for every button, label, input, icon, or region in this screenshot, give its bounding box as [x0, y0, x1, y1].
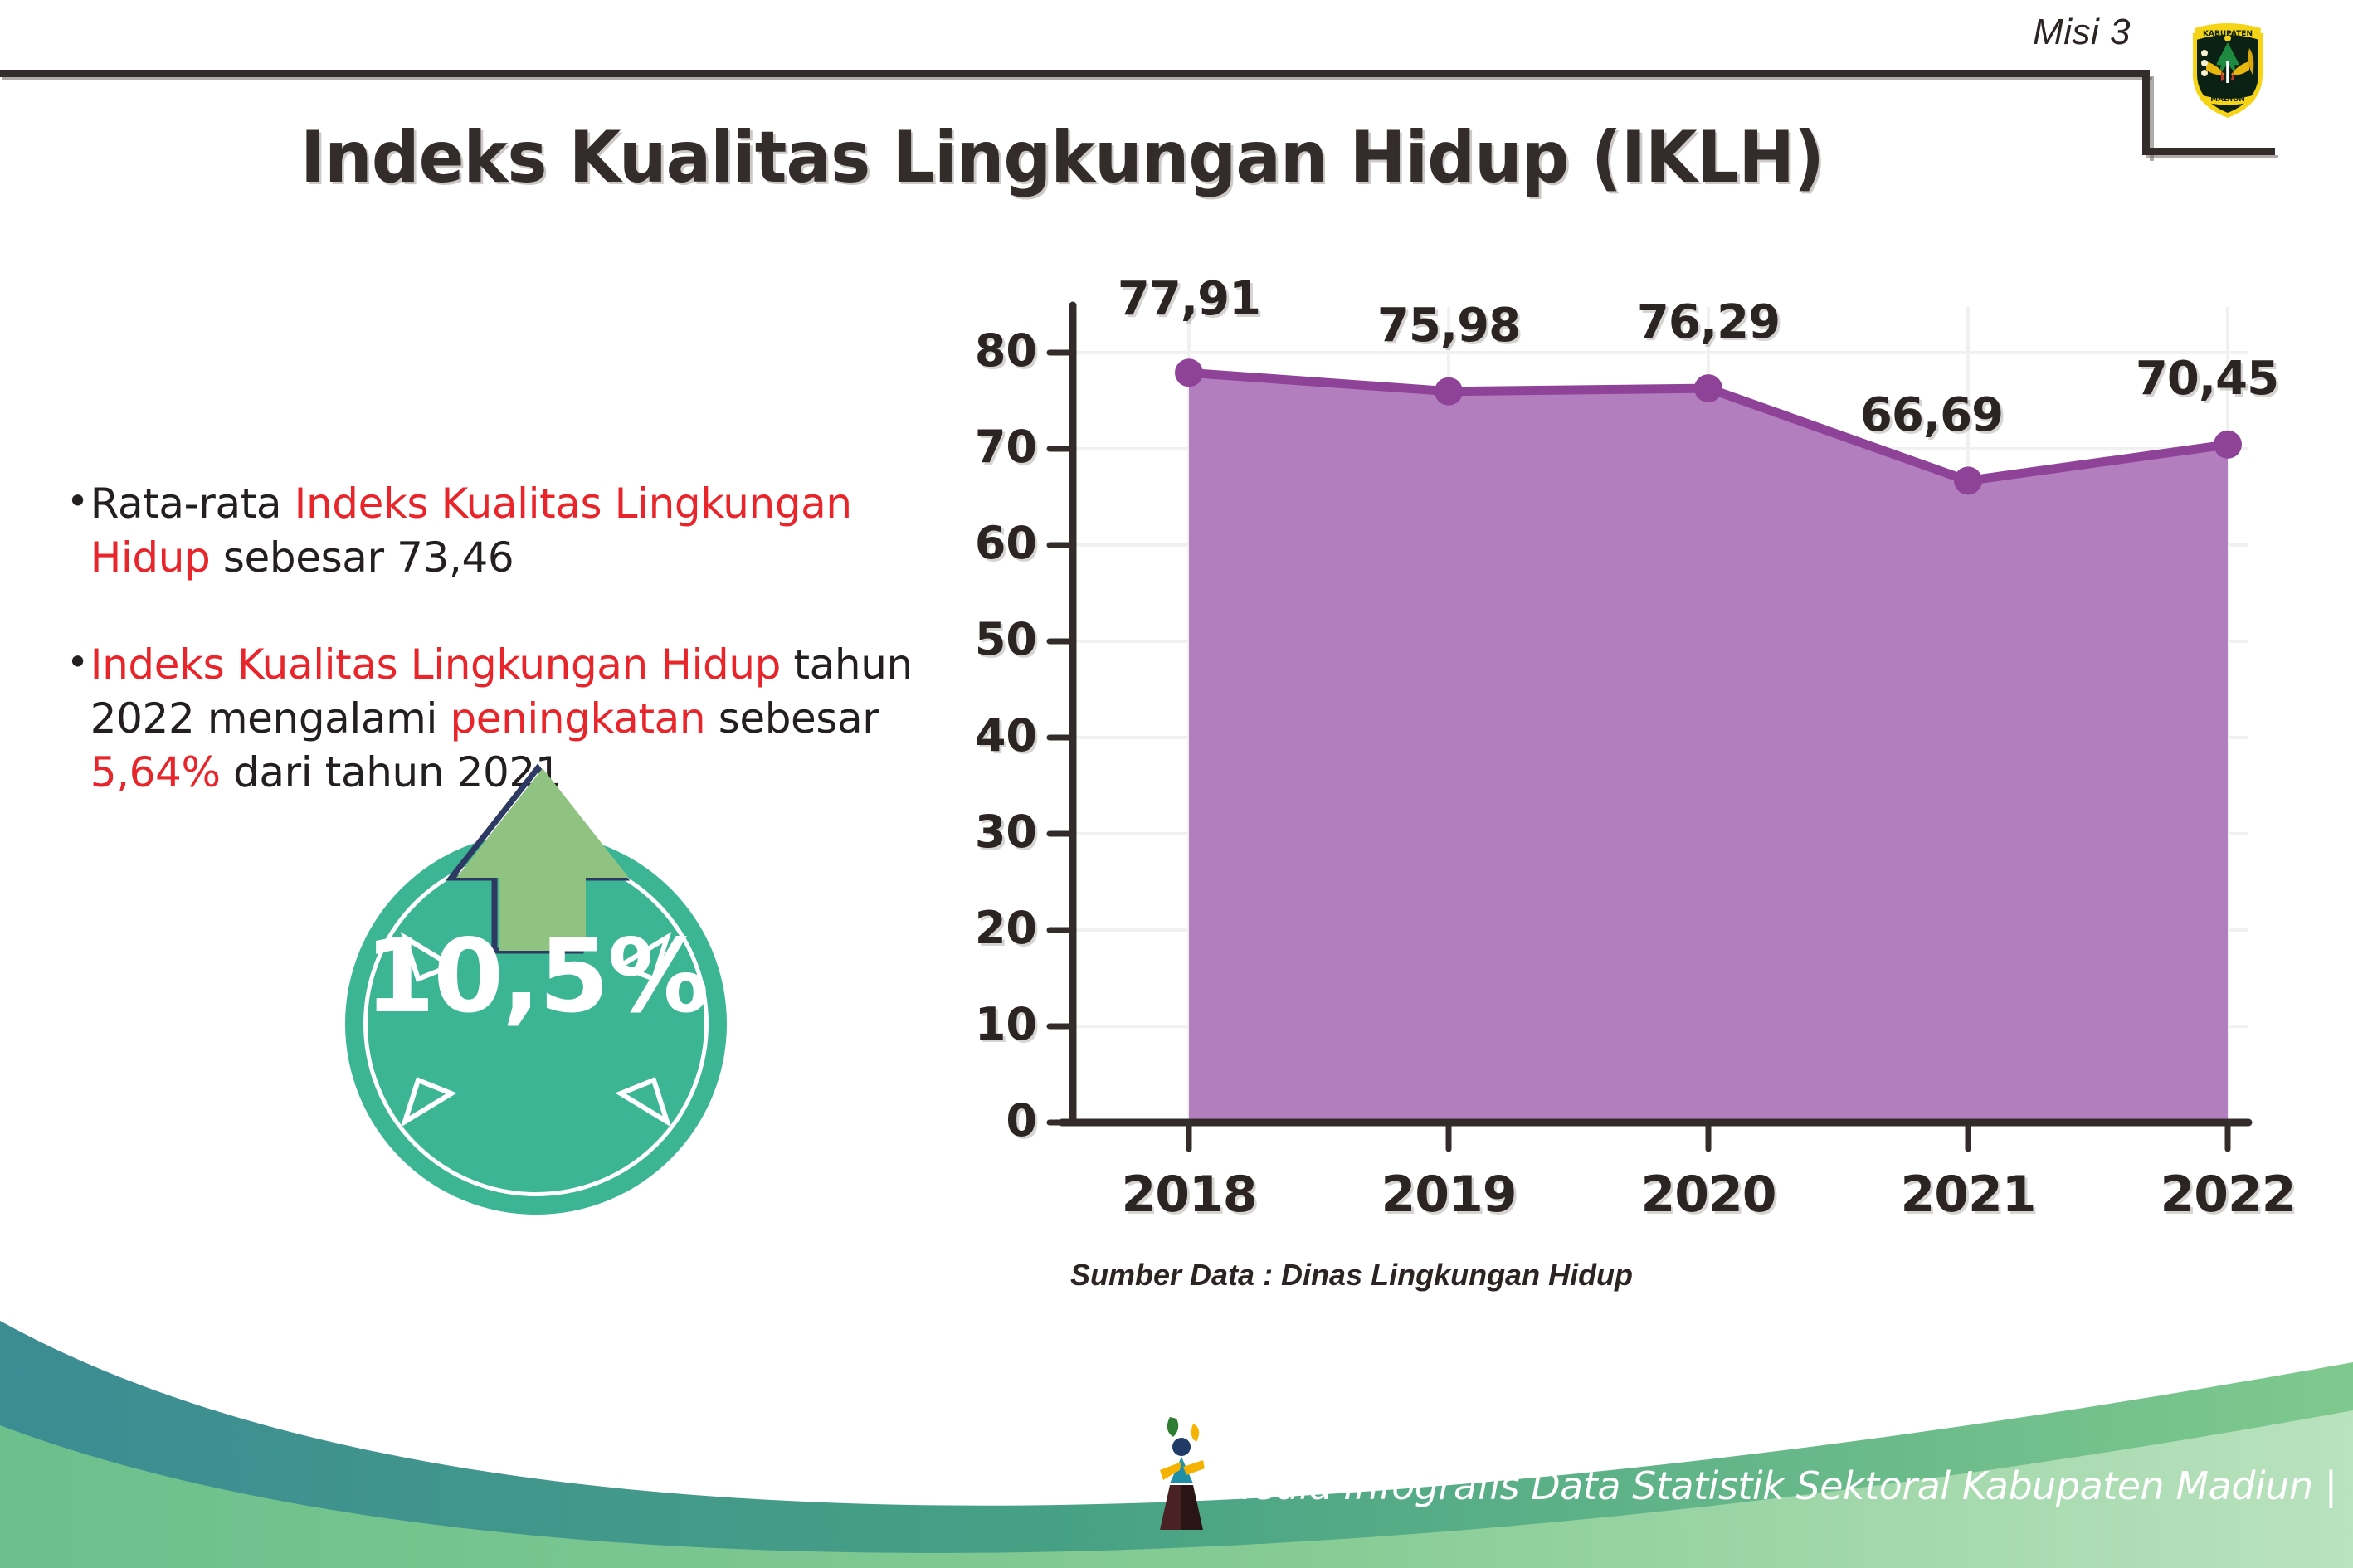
header-bottom-rule-shadow [2146, 155, 2278, 158]
x-tick-label-2018: 2018 [1064, 1166, 1313, 1224]
y-tick-label-40: 40 [921, 709, 1037, 762]
y-tick-label-0: 0 [921, 1094, 1037, 1147]
y-tick-label-50: 50 [921, 613, 1037, 665]
chart-area-fill [1189, 373, 2228, 1122]
data-label-2020: 76,29 [1600, 295, 1816, 349]
data-label-2019: 75,98 [1341, 299, 1556, 353]
data-label-2022: 70,45 [2099, 352, 2315, 406]
y-tick-label-10: 10 [921, 998, 1037, 1050]
y-tick-label-70: 70 [921, 421, 1037, 473]
emblem-icon: KABUPATEN MADIUN [2186, 15, 2269, 121]
x-tick-label-2021: 2021 [1844, 1166, 2092, 1224]
media-infografis-logo-icon [1145, 1409, 1225, 1533]
header-rule-shadow [2, 77, 2152, 80]
y-tick-label-20: 20 [921, 902, 1037, 954]
emblem-top-text: KABUPATEN [2203, 30, 2253, 38]
emblem-bottom-text: MADIUN [2210, 95, 2245, 104]
chart-canvas [971, 290, 2298, 1236]
bullet-dot: • [66, 477, 89, 527]
x-tick-label-2019: 2019 [1324, 1166, 1573, 1224]
increase-badge: 10,5% [325, 753, 773, 1218]
y-tick-label-30: 30 [921, 806, 1037, 858]
page-title: Indeks Kualitas Lingkungan Hidup (IKLH) [64, 116, 2060, 199]
infographic-slide: Misi 3 KABUPATEN MADIUN Indeks Kualitas … [0, 0, 2353, 1568]
data-label-2021: 66,69 [1824, 388, 2039, 442]
data-label-2018: 77,91 [1081, 272, 1297, 326]
chart-x-ticks [1189, 1122, 2228, 1149]
bullet-text-1: Rata-rata Indeks Kualitas Lingkungan Hid… [90, 477, 946, 585]
y-tick-label-60: 60 [921, 517, 1037, 569]
header-rule [0, 70, 2150, 77]
footer-text: Media Infografis Data Statistik Sektoral… [1220, 1463, 2337, 1508]
misi-label: Misi 3 [2033, 12, 2131, 53]
header-vertical-rule [2142, 70, 2150, 154]
footer-wave: Media Infografis Data Statistik Sektoral… [0, 1286, 2353, 1568]
list-item: • Rata-rata Indeks Kualitas Lingkungan H… [66, 477, 946, 585]
x-tick-label-2022: 2022 [2103, 1166, 2352, 1224]
kabupaten-madiun-logo: KABUPATEN MADIUN [2186, 15, 2269, 121]
header-bottom-rule [2142, 148, 2275, 155]
bullet-list: • Rata-rata Indeks Kualitas Lingkungan H… [66, 477, 946, 800]
iklh-area-chart: 80 70 60 50 40 30 20 10 0 2018 2019 2020… [971, 290, 2298, 1236]
bullet-dot: • [66, 638, 89, 688]
x-tick-label-2020: 2020 [1584, 1166, 1833, 1224]
y-tick-label-80: 80 [921, 324, 1037, 377]
badge-percent-label: 10,5% [345, 918, 727, 1035]
